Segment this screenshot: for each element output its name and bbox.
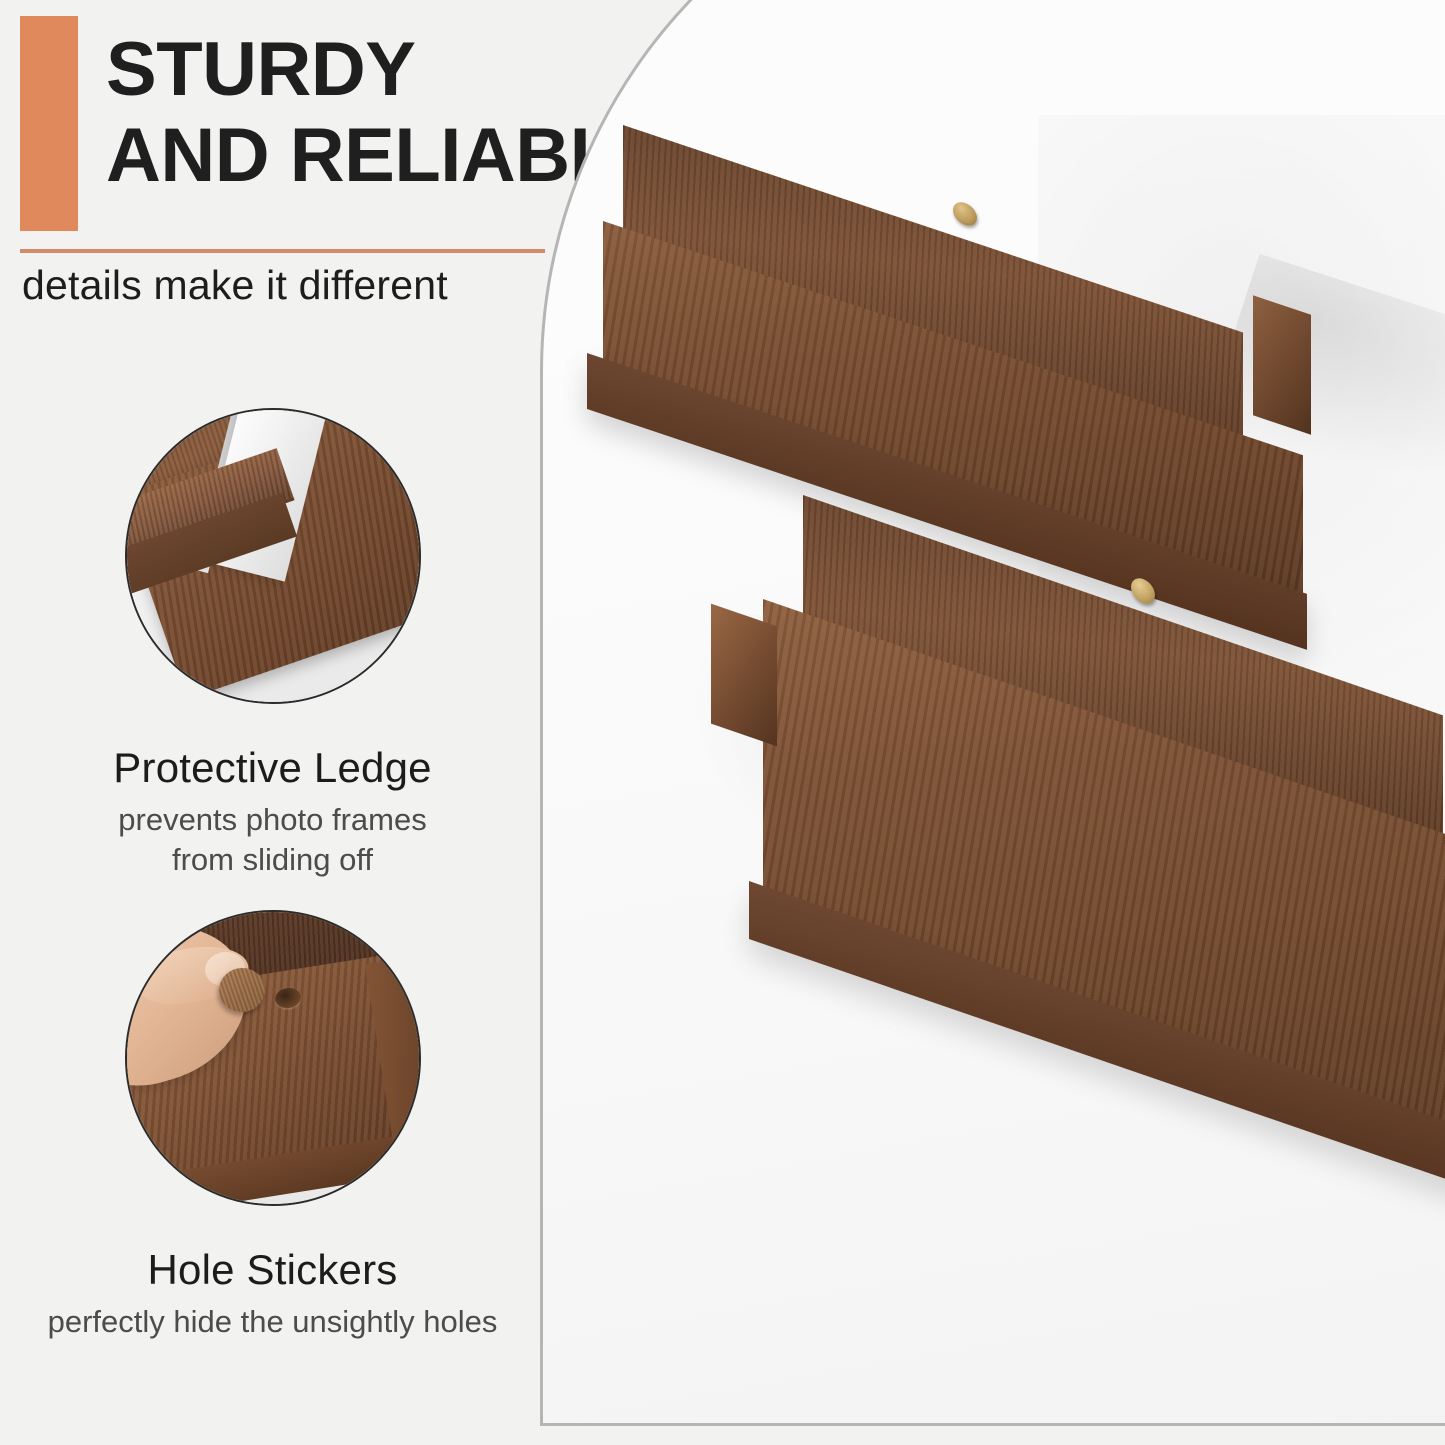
feature-title: Hole Stickers bbox=[0, 1246, 545, 1294]
title-divider bbox=[20, 249, 545, 253]
product-photo bbox=[543, 0, 1445, 1423]
title-line-1: STURDY bbox=[106, 27, 415, 112]
shelf-left-lip bbox=[711, 604, 777, 747]
feature-image-hole-stickers bbox=[125, 910, 421, 1206]
feature-description-line-2: from sliding off bbox=[172, 842, 373, 877]
shelf-lower bbox=[733, 495, 1445, 1255]
product-arch-panel bbox=[540, 0, 1445, 1426]
feature-description: perfectly hide the unsightly holes bbox=[0, 1302, 545, 1342]
feature-hole-stickers: Hole Stickers perfectly hide the unsight… bbox=[0, 910, 545, 1342]
feature-description-line-1: prevents photo frames bbox=[118, 802, 426, 837]
feature-description: prevents photo frames from sliding off bbox=[0, 800, 545, 879]
feature-image-protective-ledge bbox=[125, 408, 421, 704]
ledge-illustration bbox=[127, 410, 419, 702]
shelf-upper bbox=[563, 125, 1383, 555]
feature-description-line-1: perfectly hide the unsightly holes bbox=[48, 1304, 498, 1339]
page-subtitle: details make it different bbox=[22, 262, 622, 309]
hole-sticker-illustration bbox=[127, 912, 419, 1204]
brass-screw-icon bbox=[1131, 575, 1155, 607]
product-feature-graphic: STURDY AND RELIABLE details make it diff… bbox=[0, 0, 1445, 1445]
brass-screw-icon bbox=[953, 199, 977, 229]
feature-title: Protective Ledge bbox=[0, 744, 545, 792]
accent-bar bbox=[20, 16, 78, 231]
feature-protective-ledge: Protective Ledge prevents photo frames f… bbox=[0, 408, 545, 879]
shelf-right-lip bbox=[1253, 295, 1311, 434]
